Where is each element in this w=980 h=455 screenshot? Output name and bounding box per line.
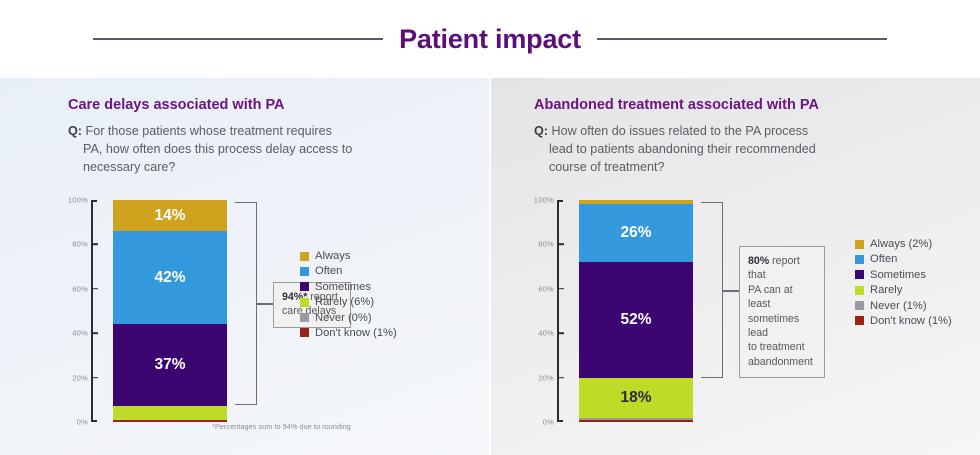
y-tickmark-20-right — [559, 377, 564, 379]
y-tickmark-80-right — [559, 244, 564, 246]
bar-segment-rarely[interactable]: 18% — [579, 378, 693, 418]
legend-item-sometimes[interactable]: Sometimes — [300, 281, 397, 293]
legend-swatch-rarely-icon — [855, 286, 864, 295]
question-marker: Q: — [534, 124, 548, 138]
legend-swatch-sometimes-icon — [300, 282, 309, 291]
y-tickmark-20-left — [93, 377, 98, 379]
question-line-3: course of treatment? — [534, 159, 954, 177]
y-tick-40: 40% — [72, 329, 88, 338]
bar-segment-always[interactable]: 14% — [113, 200, 227, 231]
legend-care-delays: Always Often Sometimes Rarely (6%) Never… — [300, 250, 397, 342]
panel-title-care-delays: Care delays associated with PA — [68, 97, 285, 113]
y-axis-cap-bottom-left — [91, 420, 97, 422]
legend-abandoned-treatment: Always (2%) Often Sometimes Rarely Never… — [855, 238, 952, 330]
legend-label-dont-know: Don't know (1%) — [315, 327, 397, 339]
question-line-1: How often do issues related to the PA pr… — [552, 124, 809, 138]
bar-segment-rarely[interactable] — [113, 406, 227, 419]
legend-item-often[interactable]: Often — [855, 253, 952, 265]
y-tick-80: 80% — [538, 240, 554, 249]
legend-item-never[interactable]: Never (0%) — [300, 312, 397, 324]
callout-text5-abandoned: abandonment — [748, 356, 813, 368]
bar-segment-often[interactable]: 42% — [113, 231, 227, 324]
stacked-bar-care-delays: 14% 42% 37% — [113, 200, 227, 422]
question-line-3: necessary care? — [68, 159, 468, 177]
legend-label-rarely: Rarely (6%) — [315, 296, 374, 308]
y-tick-20: 20% — [72, 373, 88, 382]
bar-segment-dont-know[interactable] — [579, 420, 693, 422]
callout-abandoned-treatment: 80% report that PA can at least sometime… — [739, 246, 825, 378]
panel-title-abandoned-treatment: Abandoned treatment associated with PA — [534, 97, 819, 113]
legend-item-dont-know[interactable]: Don't know (1%) — [300, 327, 397, 339]
question-marker: Q: — [68, 124, 82, 138]
y-tickmark-40-left — [93, 332, 98, 334]
bracket-stem-care-delays — [256, 303, 274, 305]
y-tick-60: 60% — [538, 284, 554, 293]
question-line-1: For those patients whose treatment requi… — [86, 124, 332, 138]
y-tick-100: 100% — [68, 196, 88, 205]
legend-item-never[interactable]: Never (1%) — [855, 300, 952, 312]
legend-swatch-sometimes-icon — [855, 270, 864, 279]
y-axis-labels-left: 100% 80% 60% 40% 20% 0% — [58, 200, 88, 422]
legend-swatch-never-icon — [300, 313, 309, 322]
legend-label-rarely: Rarely — [870, 284, 902, 296]
legend-swatch-dont-know-icon — [855, 316, 864, 325]
y-tick-100: 100% — [534, 196, 554, 205]
legend-label-always: Always (2%) — [870, 238, 932, 250]
legend-swatch-often-icon — [300, 267, 309, 276]
bar-segment-often[interactable]: 26% — [579, 204, 693, 262]
legend-label-sometimes: Sometimes — [315, 281, 371, 293]
question-line-2: lead to patients abandoning their recomm… — [534, 141, 954, 159]
legend-label-often: Often — [315, 265, 342, 277]
y-tick-0: 0% — [77, 418, 88, 427]
callout-stat-abandoned: 80% — [748, 255, 769, 267]
legend-swatch-rarely-icon — [300, 298, 309, 307]
legend-label-dont-know: Don't know (1%) — [870, 315, 952, 327]
legend-label-never: Never (0%) — [315, 312, 372, 324]
stacked-bar-abandoned-treatment: 26% 52% 18% — [579, 200, 693, 422]
bracket-care-delays — [235, 202, 257, 405]
legend-item-sometimes[interactable]: Sometimes — [855, 269, 952, 281]
y-axis-cap-bottom-right — [557, 420, 563, 422]
header-rule-right — [597, 38, 887, 40]
bar-segment-sometimes[interactable]: 52% — [579, 262, 693, 377]
question-line-2: PA, how often does this process delay ac… — [68, 141, 468, 159]
y-axis-cap-top-left — [91, 200, 97, 202]
legend-swatch-always-icon — [300, 252, 309, 261]
legend-swatch-never-icon — [855, 301, 864, 310]
legend-label-sometimes: Sometimes — [870, 269, 926, 281]
callout-text3-abandoned: sometimes lead — [748, 313, 799, 339]
bracket-stem-abandoned-treatment — [722, 290, 740, 292]
legend-item-dont-know[interactable]: Don't know (1%) — [855, 315, 952, 327]
y-axis-cap-top-right — [557, 200, 563, 202]
legend-label-always: Always — [315, 250, 350, 262]
page-header: Patient impact — [0, 0, 980, 78]
question-abandoned-treatment: Q: How often do issues related to the PA… — [534, 123, 954, 177]
patient-impact-infographic: Patient impact Care delays associated wi… — [0, 0, 980, 455]
y-axis-labels-right: 100% 80% 60% 40% 20% 0% — [524, 200, 554, 422]
y-axis-line-right — [557, 200, 559, 422]
legend-swatch-often-icon — [855, 255, 864, 264]
y-tick-0: 0% — [543, 418, 554, 427]
legend-label-often: Often — [870, 253, 897, 265]
footnote-care-delays: *Percentages sum to 94% due to rounding — [212, 422, 351, 431]
y-tickmark-80-left — [93, 244, 98, 246]
header-rule-left — [93, 38, 383, 40]
y-tickmark-60-left — [93, 288, 98, 290]
panel-divider — [489, 78, 491, 455]
legend-item-rarely[interactable]: Rarely — [855, 284, 952, 296]
y-axis-line-left — [91, 200, 93, 422]
page-title: Patient impact — [383, 24, 597, 55]
bar-segment-sometimes[interactable]: 37% — [113, 324, 227, 406]
y-tickmark-40-right — [559, 332, 564, 334]
legend-item-always[interactable]: Always — [300, 250, 397, 262]
legend-item-always[interactable]: Always (2%) — [855, 238, 952, 250]
legend-item-rarely[interactable]: Rarely (6%) — [300, 296, 397, 308]
panel-abandoned-treatment: Abandoned treatment associated with PA Q… — [490, 78, 980, 455]
callout-text4-abandoned: to treatment — [748, 341, 805, 353]
question-care-delays: Q: For those patients whose treatment re… — [68, 123, 468, 177]
y-tick-60: 60% — [72, 284, 88, 293]
y-tick-20: 20% — [538, 373, 554, 382]
legend-swatch-dont-know-icon — [300, 328, 309, 337]
y-tick-80: 80% — [72, 240, 88, 249]
legend-label-never: Never (1%) — [870, 300, 927, 312]
legend-swatch-always-icon — [855, 240, 864, 249]
y-tick-40: 40% — [538, 329, 554, 338]
legend-item-often[interactable]: Often — [300, 265, 397, 277]
callout-text2-abandoned: PA can at least — [748, 284, 793, 310]
y-tickmark-60-right — [559, 288, 564, 290]
bar-segment-dont-know[interactable] — [113, 420, 227, 422]
bracket-abandoned-treatment — [701, 202, 723, 378]
panel-care-delays: Care delays associated with PA Q: For th… — [0, 78, 490, 455]
